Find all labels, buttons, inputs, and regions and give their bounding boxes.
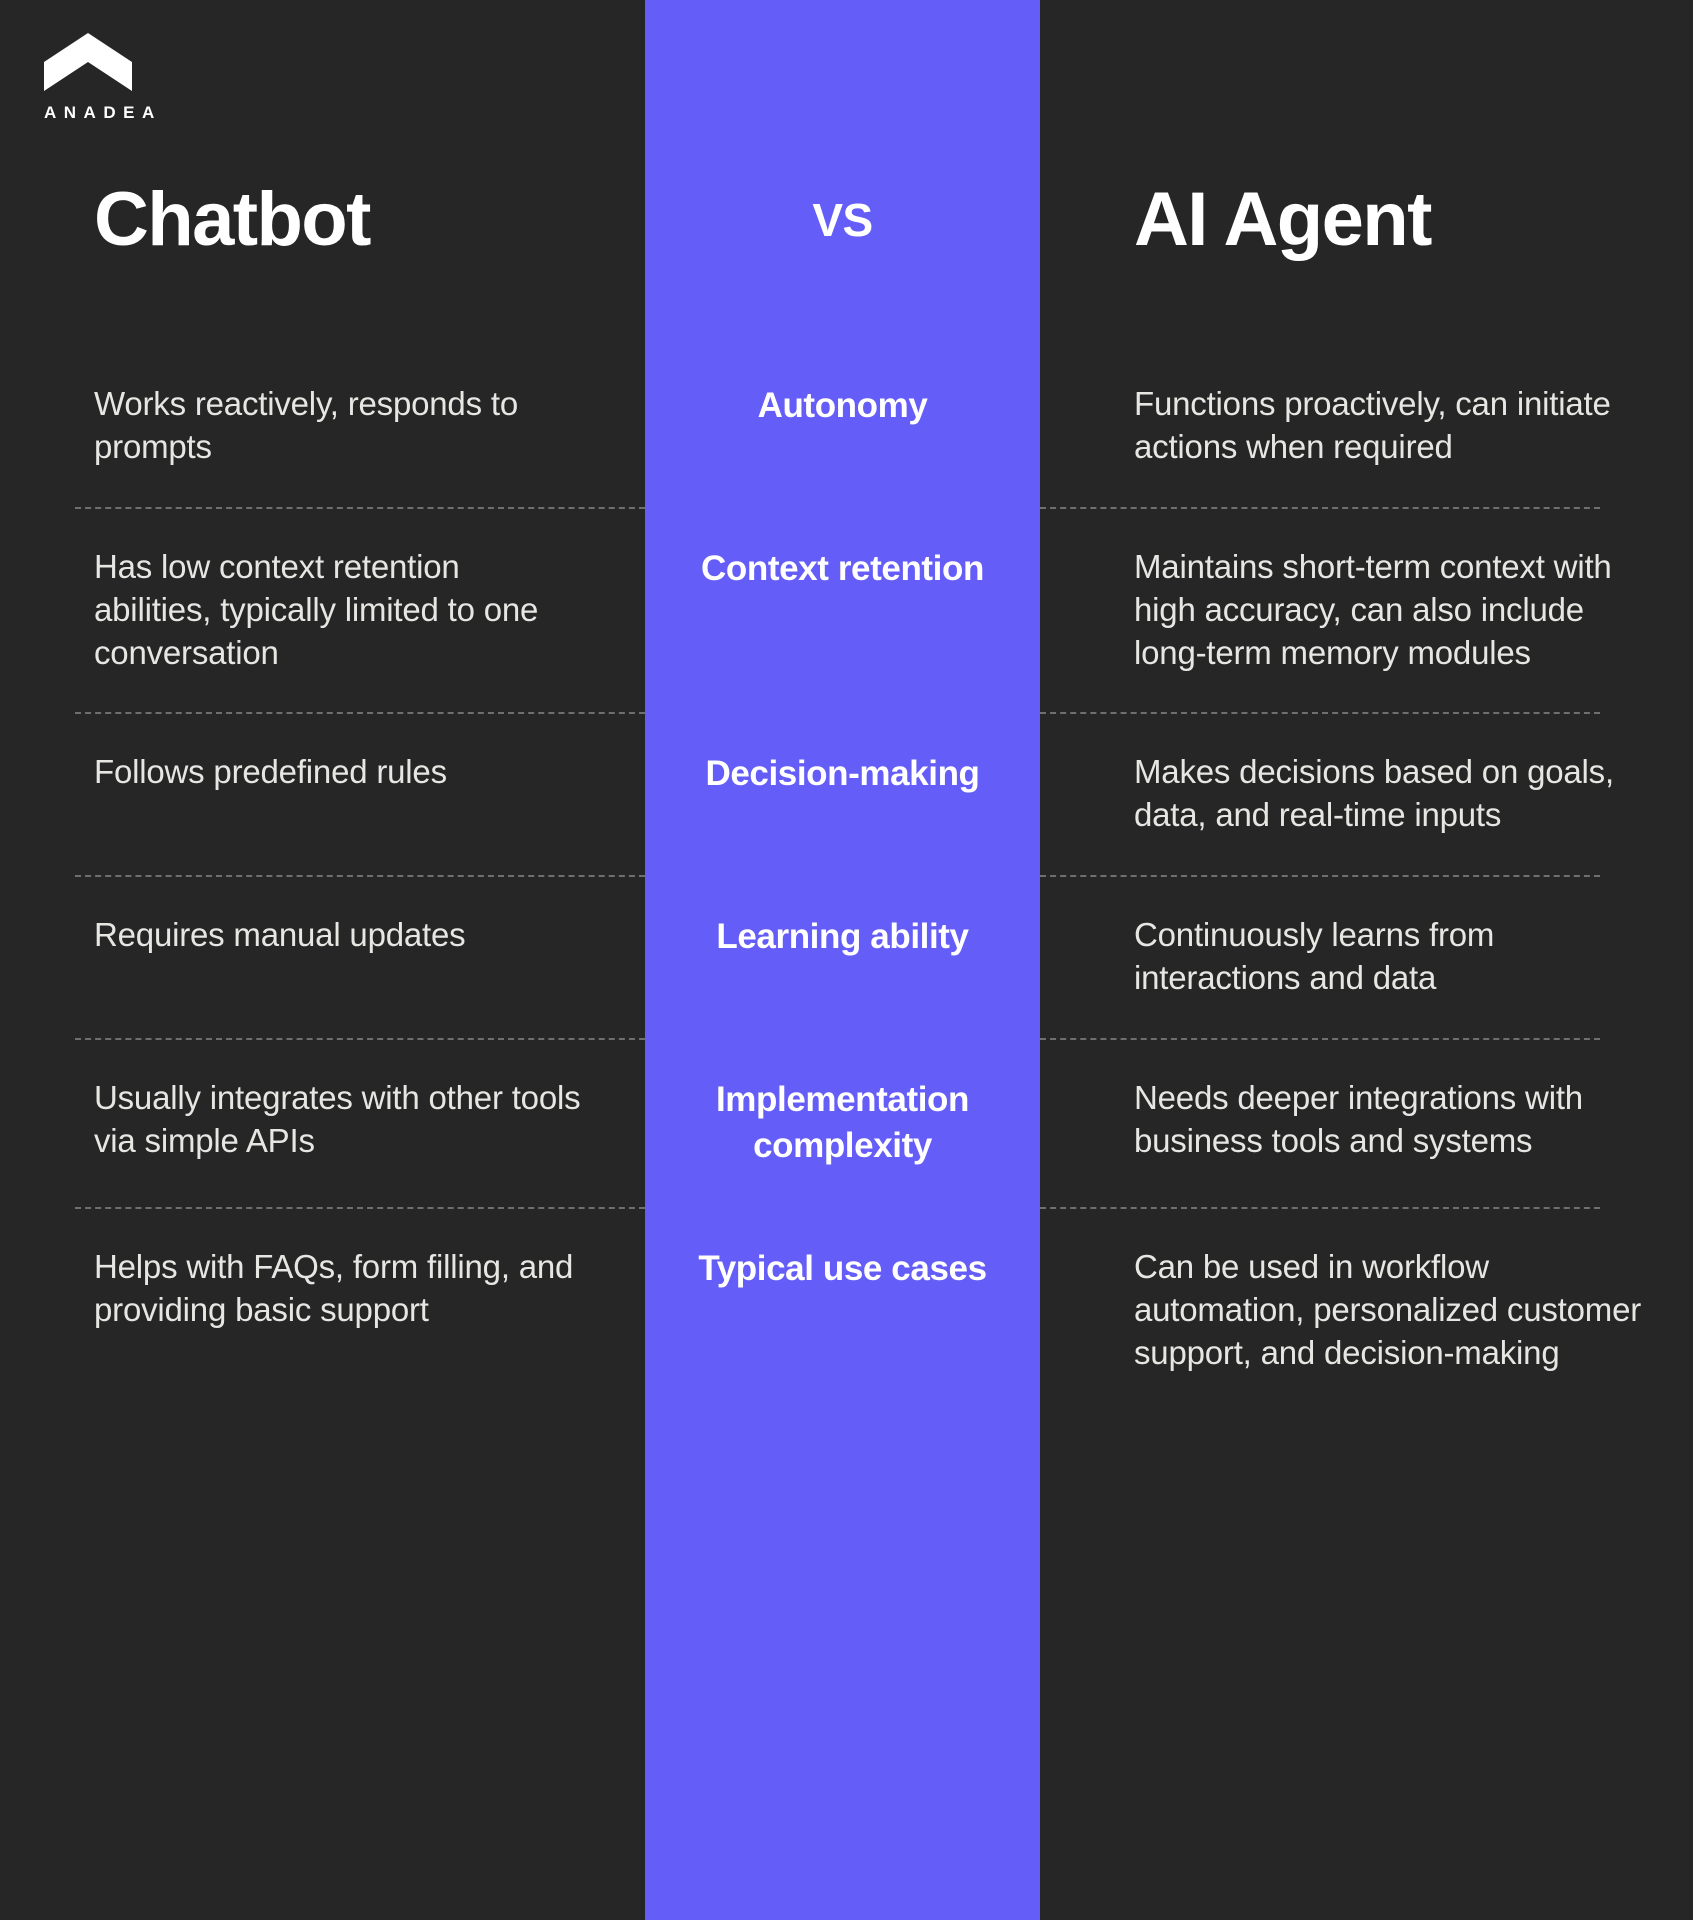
chatbot-cell: Usually integrates with other tools via … <box>0 1039 645 1201</box>
chatbot-cell: Works reactively, responds to prompts <box>0 345 645 507</box>
criterion-cell: Autonomy <box>645 345 1040 467</box>
criterion-cell: Learning ability <box>645 876 1040 998</box>
criterion-cell: Context retention <box>645 508 1040 630</box>
chatbot-cell-text: Requires manual updates <box>94 914 585 957</box>
header-left: Chatbot <box>0 181 645 259</box>
ai-agent-cell-text: Can be used in workflow automation, pers… <box>1134 1246 1647 1375</box>
ai-agent-cell: Needs deeper integrations with business … <box>1040 1039 1693 1201</box>
chatbot-cell-text: Follows predefined rules <box>94 751 585 794</box>
ai-agent-cell: Can be used in workflow automation, pers… <box>1040 1208 1693 1413</box>
header-right: AI Agent <box>1040 181 1693 259</box>
criterion-label: Autonomy <box>659 383 1026 429</box>
criterion-label: Typical use cases <box>659 1246 1026 1292</box>
chatbot-cell: Follows predefined rules <box>0 713 645 832</box>
ai-agent-cell-text: Needs deeper integrations with business … <box>1134 1077 1647 1163</box>
chatbot-cell: Has low context retention abilities, typ… <box>0 508 645 713</box>
criterion-cell: Implementation complexity <box>645 1039 1040 1207</box>
header-row: Chatbot VS AI Agent <box>0 150 1693 290</box>
comparison-row: Works reactively, responds to promptsAut… <box>0 345 1693 507</box>
chevron-up-icon <box>44 33 132 91</box>
ai-agent-cell: Functions proactively, can initiate acti… <box>1040 345 1693 507</box>
brand-wordmark: ANADEA <box>44 104 244 121</box>
criterion-label: Learning ability <box>659 914 1026 960</box>
chatbot-cell-text: Works reactively, responds to prompts <box>94 383 585 469</box>
ai-agent-cell-text: Continuously learns from interactions an… <box>1134 914 1647 1000</box>
ai-agent-cell: Maintains short-term context with high a… <box>1040 508 1693 713</box>
chatbot-cell: Helps with FAQs, form filling, and provi… <box>0 1208 645 1370</box>
infographic-canvas: ANADEA Chatbot VS AI Agent Works reactiv… <box>0 0 1693 1920</box>
header-center: VS <box>645 197 1040 243</box>
versus-label: VS <box>663 197 1022 243</box>
criterion-label: Context retention <box>659 546 1026 592</box>
chatbot-title: Chatbot <box>94 181 615 259</box>
criterion-label: Implementation complexity <box>659 1077 1026 1169</box>
comparison-row: Helps with FAQs, form filling, and provi… <box>0 1208 1693 1413</box>
brand-logo: ANADEA <box>44 33 244 121</box>
chatbot-cell: Requires manual updates <box>0 876 645 995</box>
criterion-cell: Decision-making <box>645 713 1040 835</box>
chatbot-cell-text: Usually integrates with other tools via … <box>94 1077 585 1163</box>
comparison-row: Has low context retention abilities, typ… <box>0 508 1693 713</box>
ai-agent-cell: Continuously learns from interactions an… <box>1040 876 1693 1038</box>
comparison-row: Requires manual updatesLearning abilityC… <box>0 876 1693 1038</box>
criterion-label: Decision-making <box>659 751 1026 797</box>
comparison-row: Follows predefined rulesDecision-makingM… <box>0 713 1693 875</box>
ai-agent-cell: Makes decisions based on goals, data, an… <box>1040 713 1693 875</box>
chatbot-cell-text: Helps with FAQs, form filling, and provi… <box>94 1246 585 1332</box>
ai-agent-cell-text: Maintains short-term context with high a… <box>1134 546 1647 675</box>
ai-agent-title: AI Agent <box>1134 181 1645 259</box>
criterion-cell: Typical use cases <box>645 1208 1040 1330</box>
ai-agent-cell-text: Makes decisions based on goals, data, an… <box>1134 751 1647 837</box>
comparison-row: Usually integrates with other tools via … <box>0 1039 1693 1207</box>
ai-agent-cell-text: Functions proactively, can initiate acti… <box>1134 383 1647 469</box>
chatbot-cell-text: Has low context retention abilities, typ… <box>94 546 585 675</box>
comparison-rows: Works reactively, responds to promptsAut… <box>0 345 1693 1413</box>
